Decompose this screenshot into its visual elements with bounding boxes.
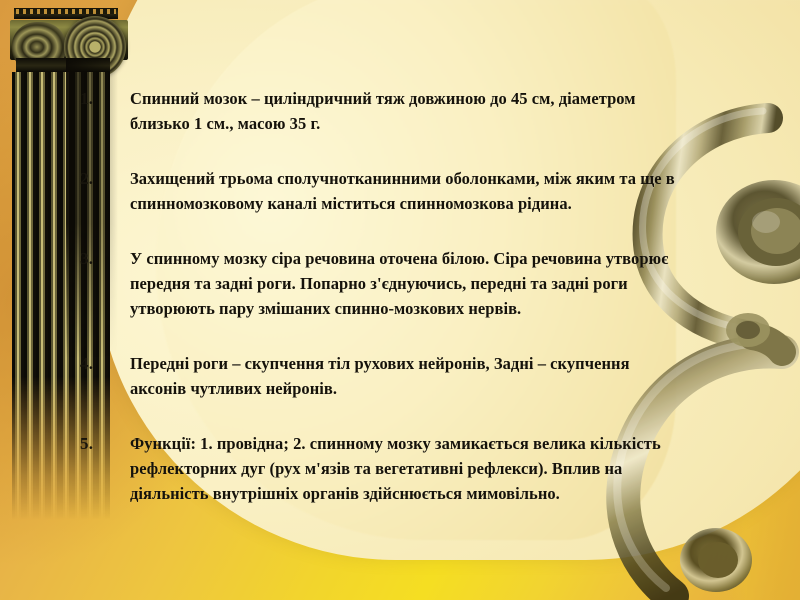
list-item-text: Передні роги – скупчення тіл рухових ней… [130, 351, 680, 401]
column-dentil-band [16, 9, 116, 14]
presentation-slide: 1. Спинний мозок – циліндричний тяж довж… [0, 0, 800, 600]
list-item-text: Захищений трьома сполучнотканинними обол… [130, 166, 680, 216]
list-item-number: 4. [80, 351, 130, 376]
list-item-number: 2. [80, 166, 130, 191]
list-item: 5. Функції: 1. провідна; 2. спинному моз… [80, 431, 680, 506]
slide-body-list: 1. Спинний мозок – циліндричний тяж довж… [80, 86, 680, 506]
list-item: 2. Захищений трьома сполучнотканинними о… [80, 166, 680, 216]
list-item: 1. Спинний мозок – циліндричний тяж довж… [80, 86, 680, 136]
list-item-number: 3. [80, 246, 130, 271]
list-item-text: Функції: 1. провідна; 2. спинному мозку … [130, 431, 680, 506]
list-item-number: 5. [80, 431, 130, 456]
list-item: 4. Передні роги – скупчення тіл рухових … [80, 351, 680, 401]
list-item-number: 1. [80, 86, 130, 111]
list-item: 3. У спинному мозку сіра речовина оточен… [80, 246, 680, 321]
list-item-text: У спинному мозку сіра речовина оточена б… [130, 246, 680, 321]
list-item-text: Спинний мозок – циліндричний тяж довжино… [130, 86, 680, 136]
